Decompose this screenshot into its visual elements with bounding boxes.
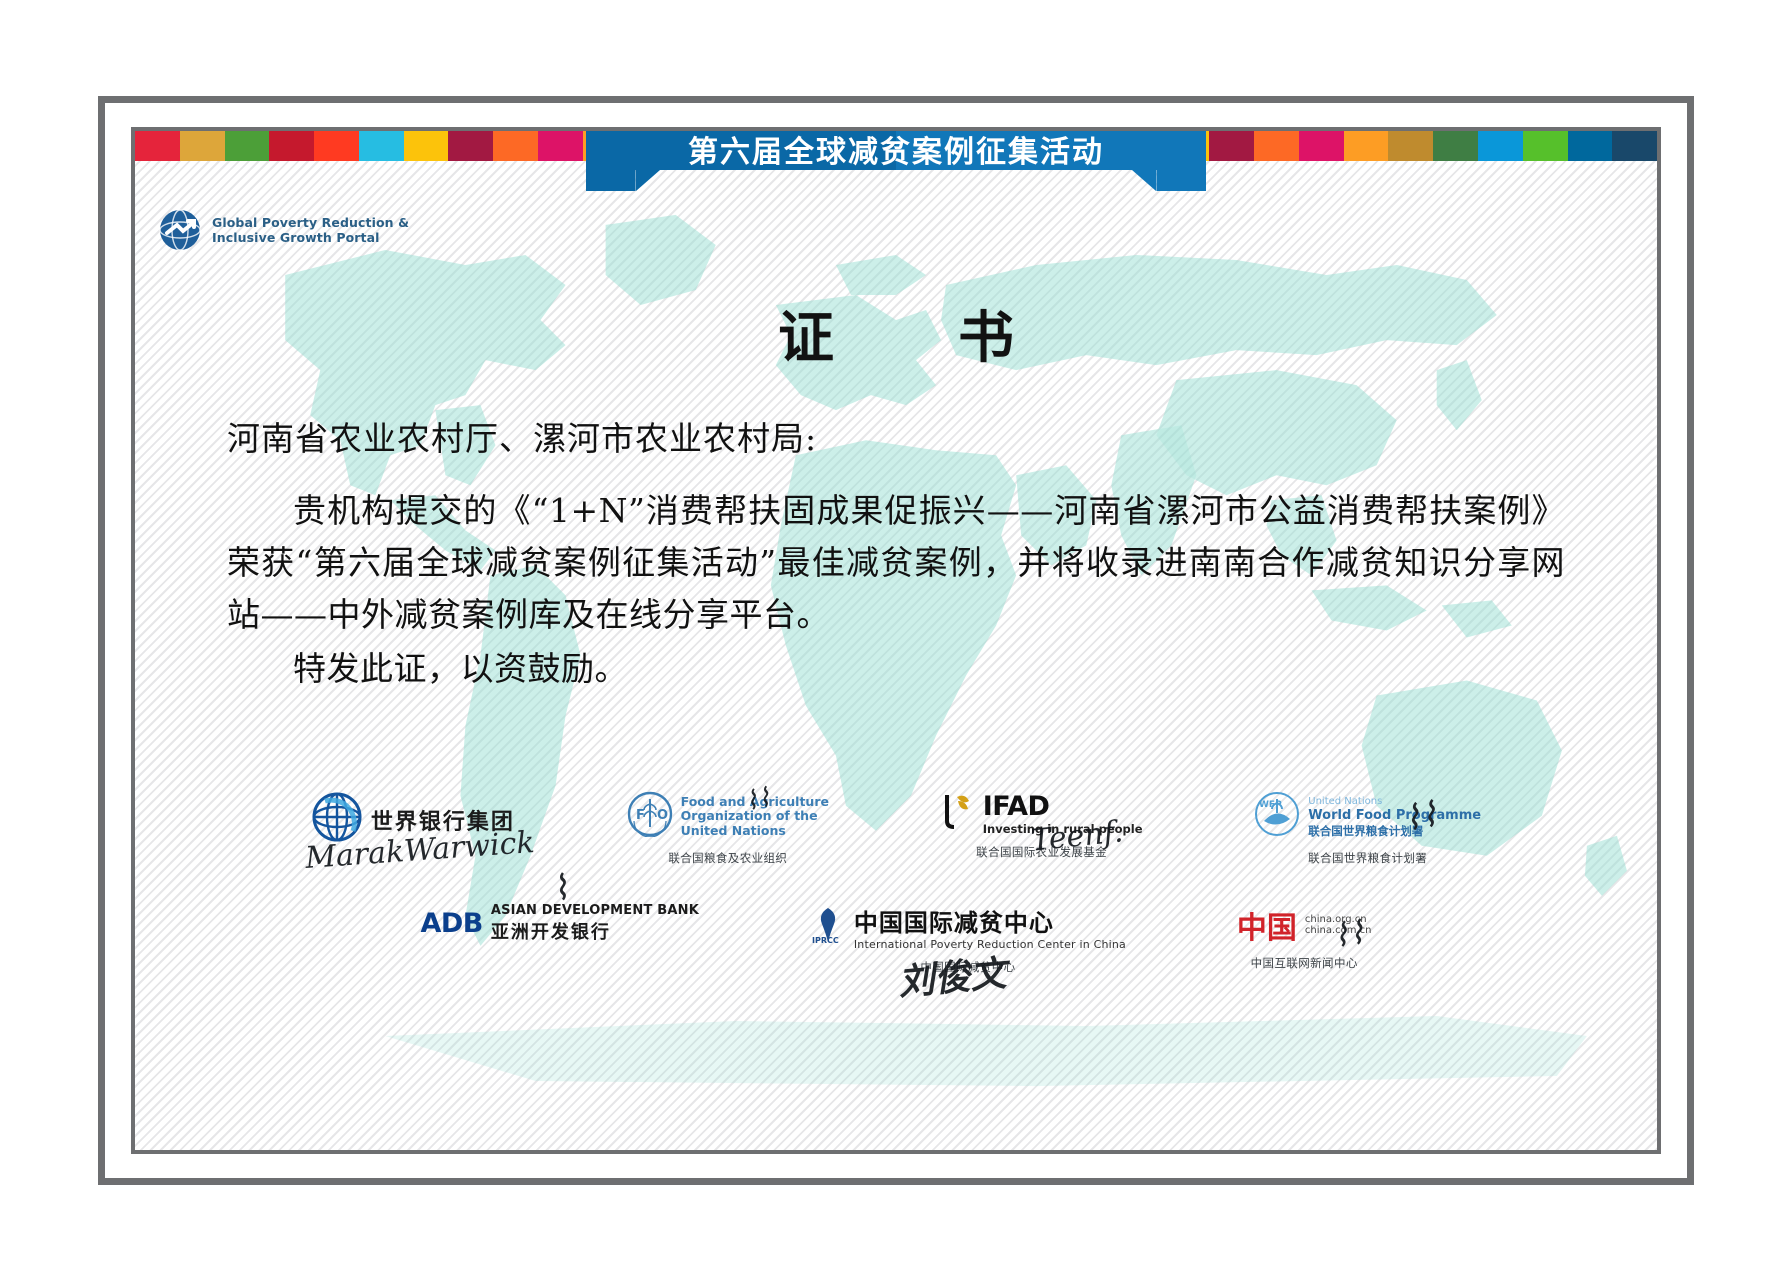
china-net-icon: 中国 <box>1237 903 1297 947</box>
fao-en-line2: Organization of the <box>681 809 829 824</box>
portal-logo-line1: Global Poverty Reduction & <box>212 215 409 230</box>
sdg-swatch-29 <box>1388 131 1433 161</box>
logo-china-net: 中国 china.org.cn china.com.cn 中国互联网新闻中心 ⌇… <box>1237 903 1372 975</box>
sdg-swatch-26 <box>1254 131 1299 161</box>
organization-logos: 世界银行集团 MarakWarwick F <box>135 791 1657 1150</box>
certificate-body: 河南省农业农村厅、漯河市农业农村局: 贵机构提交的《“1+N”消费帮扶固成果促振… <box>227 417 1565 695</box>
portal-logo: Global Poverty Reduction & Inclusive Gro… <box>157 207 409 253</box>
certificate-paragraph-2: 特发此证，以资鼓励。 <box>227 643 1565 695</box>
logo-wfp: WFP United Nations World Food Programme … <box>1254 791 1481 866</box>
wfp-en-line1: United Nations <box>1308 795 1481 810</box>
svg-text:O: O <box>657 808 668 823</box>
certificate-outer-frame: Global Poverty Reduction & Inclusive Gro… <box>98 96 1694 1185</box>
sdg-swatch-27 <box>1299 131 1344 161</box>
sdg-swatch-7 <box>404 131 449 161</box>
sdg-swatch-8 <box>448 131 493 161</box>
world-bank-globe-icon <box>311 791 363 848</box>
event-banner: 第六届全球减贫案例征集活动 <box>586 129 1206 191</box>
sdg-swatch-9 <box>493 131 538 161</box>
globe-handshake-icon <box>157 207 203 253</box>
ifad-name: IFAD <box>983 791 1143 822</box>
banner-tail-right <box>1156 170 1206 191</box>
certificate-paragraph-1: 贵机构提交的《“1+N”消费帮扶固成果促振兴——河南省漯河市公益消费帮扶案例》荣… <box>227 485 1565 641</box>
certificate-paper: Global Poverty Reduction & Inclusive Gro… <box>135 161 1657 1150</box>
banner-tail-left <box>586 170 636 191</box>
sdg-swatch-4 <box>269 131 314 161</box>
fao-name-en: Food and Agriculture Organization of the… <box>681 795 829 839</box>
signature-iprcc: 刘俊文 <box>896 944 1008 1005</box>
sdg-swatch-25 <box>1209 131 1254 161</box>
adb-name-cn: 亚洲开发银行 <box>491 918 699 944</box>
certificate-page: Global Poverty Reduction & Inclusive Gro… <box>0 0 1790 1280</box>
ifad-tagline: Investing in rural people <box>983 822 1143 836</box>
world-bank-name-cn: 世界银行集团 <box>371 804 515 836</box>
logo-ifad: IFAD Investing in rural people 联合国国际农业发展… <box>941 791 1143 866</box>
logo-iprcc: IPRCC 中国国际减贫中心 International Poverty Red… <box>810 903 1126 975</box>
china-net-domain-2: china.com.cn <box>1305 925 1372 936</box>
sdg-swatch-34 <box>1612 131 1657 161</box>
china-net-caption-cn: 中国互联网新闻中心 <box>1237 955 1372 971</box>
logo-fao: F O Food and Agriculture Org <box>627 791 829 866</box>
wfp-hand-icon: WFP <box>1254 791 1300 842</box>
svg-text:WFP: WFP <box>1259 800 1282 810</box>
iprcc-caption-cn: 中国国际减贫中心 <box>810 959 1126 975</box>
ifad-icon <box>941 791 975 836</box>
sdg-swatch-1 <box>135 131 180 161</box>
sdg-swatch-33 <box>1568 131 1613 161</box>
ifad-caption-cn: 联合国国际农业发展基金 <box>941 844 1143 860</box>
sdg-swatch-2 <box>180 131 225 161</box>
wfp-en-line2: World Food Programme <box>1308 809 1481 824</box>
banner-notch <box>636 170 1157 191</box>
ifad-text: IFAD Investing in rural people <box>983 791 1143 836</box>
wfp-name-en: United Nations World Food Programme 联合国世… <box>1308 795 1481 839</box>
adb-icon: ADB <box>420 908 482 939</box>
fao-caption-cn: 联合国粮食及农业组织 <box>627 850 829 866</box>
certificate-salutation: 河南省农业农村厅、漯河市农业农村局: <box>227 417 1565 461</box>
svg-text:IPRCC: IPRCC <box>812 936 839 945</box>
portal-logo-text: Global Poverty Reduction & Inclusive Gro… <box>212 215 409 245</box>
organization-logo-row-2: ADB ASIAN DEVELOPMENT BANK 亚洲开发银行 ⌇ <box>135 903 1657 975</box>
certificate-title: 证 书 <box>135 293 1657 374</box>
iprcc-name-cn: 中国国际减贫中心 <box>854 903 1126 938</box>
portal-logo-line2: Inclusive Growth Portal <box>212 230 409 245</box>
sdg-swatch-30 <box>1433 131 1478 161</box>
wfp-name-cn: 联合国世界粮食计划署 <box>1308 824 1481 839</box>
fao-wheat-icon: F O <box>627 791 673 842</box>
china-net-domain-1: china.org.cn <box>1305 914 1372 925</box>
sdg-swatch-10 <box>538 131 583 161</box>
certificate-inner-frame: Global Poverty Reduction & Inclusive Gro… <box>131 127 1661 1154</box>
iprcc-name-en: International Poverty Reduction Center i… <box>854 938 1126 951</box>
logo-world-bank: 世界银行集团 MarakWarwick <box>311 791 515 866</box>
fao-en-line3: United Nations <box>681 824 829 839</box>
sdg-swatch-5 <box>314 131 359 161</box>
sdg-swatch-28 <box>1344 131 1389 161</box>
sdg-swatch-6 <box>359 131 404 161</box>
adb-name-en: ASIAN DEVELOPMENT BANK <box>491 903 699 918</box>
sdg-swatch-32 <box>1523 131 1568 161</box>
sdg-swatch-3 <box>225 131 270 161</box>
iprcc-icon: IPRCC <box>810 905 846 950</box>
wfp-caption-cn: 联合国世界粮食计划署 <box>1254 850 1481 866</box>
logo-adb: ADB ASIAN DEVELOPMENT BANK 亚洲开发银行 ⌇ <box>420 903 699 975</box>
banner-title: 第六届全球减贫案例征集活动 <box>586 133 1206 173</box>
fao-en-line1: Food and Agriculture <box>681 795 829 810</box>
sdg-swatch-31 <box>1478 131 1523 161</box>
organization-logo-row-1: 世界银行集团 MarakWarwick F <box>135 791 1657 866</box>
